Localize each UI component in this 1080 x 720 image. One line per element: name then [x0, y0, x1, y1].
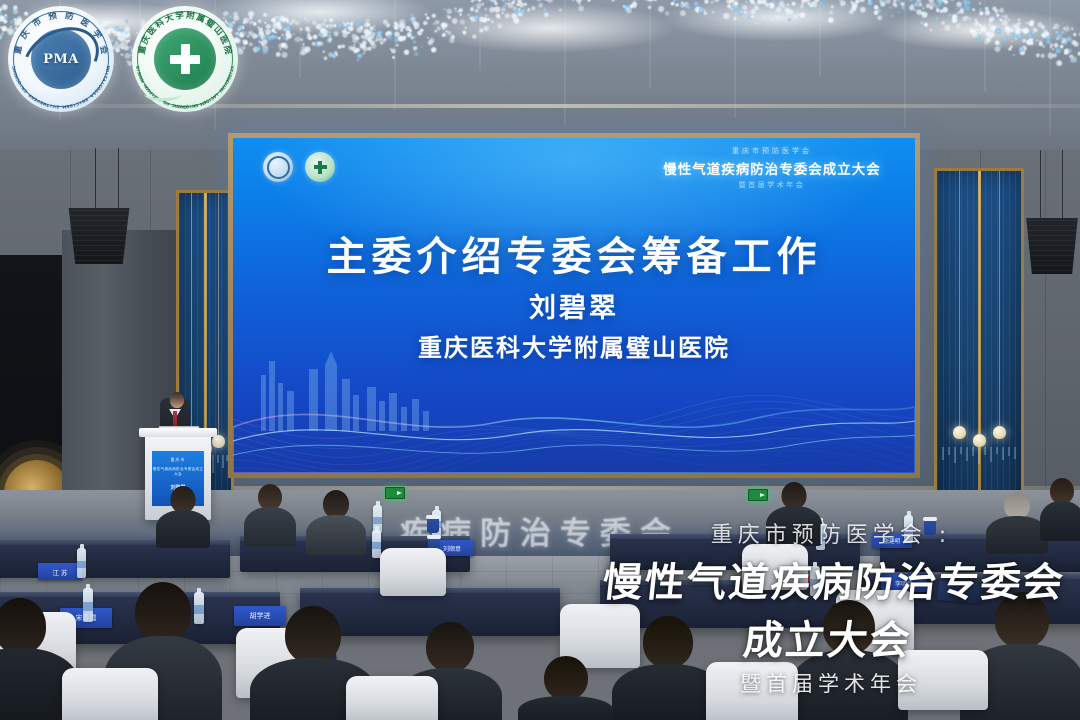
exit-sign-right	[748, 489, 768, 501]
screen-header-sub: 暨首届学术年会	[647, 180, 897, 190]
logo-bishan-hospital: 重庆医科大学附属璧山医院BISHAN HOSPITAL OF CHONGQING…	[132, 6, 238, 112]
hanging-line-array-speaker-left	[66, 208, 132, 264]
slide-speaker-affiliation: 重庆医科大学附属璧山医院	[233, 328, 915, 363]
audience-person	[244, 484, 296, 546]
paper-cup	[924, 520, 936, 535]
screen-logo-group	[263, 152, 335, 182]
audience-person	[1040, 478, 1080, 540]
chair	[706, 662, 798, 720]
exit-sign-left	[385, 487, 405, 499]
audience-person	[306, 490, 366, 552]
conference-photo: 重庆市预防医学会 慢性气道疾病防治专委会成立大会 暨首届学术年会 主委介绍专委会…	[0, 0, 1080, 720]
cpma-emblem-icon: PMA	[31, 29, 91, 89]
led-stage-screen: 重庆市预防医学会 慢性气道疾病防治专委会成立大会 暨首届学术年会 主委介绍专委会…	[228, 133, 920, 478]
chair	[898, 650, 988, 710]
screen-logo-hospital-icon	[305, 152, 335, 182]
chair	[742, 544, 808, 590]
audience-person-foreground	[790, 600, 908, 720]
corner-logo-group: 重庆市预防医学会CHONGQING PREVENTIVE MEDICINE AS…	[8, 6, 238, 112]
podium-text-line2: 慢性气道疾病防治专委会成立大会	[152, 467, 204, 477]
hanging-line-array-speaker-right	[1024, 218, 1080, 274]
audience-person	[156, 486, 210, 546]
presenter-head	[170, 392, 184, 408]
presenter-tie	[173, 411, 177, 427]
screen-header-main: 慢性气道疾病防治专委会成立大会	[647, 158, 897, 178]
chair	[62, 668, 158, 720]
slide-speaker-name: 刘碧翠	[233, 286, 915, 325]
blue-wall-panel-right	[934, 168, 1024, 523]
hospital-cross-icon	[154, 28, 216, 90]
water-bottle	[77, 548, 86, 578]
water-bottle	[83, 588, 93, 622]
name-placard: 江 苏	[38, 563, 82, 580]
hospital-wave-icon	[144, 87, 182, 101]
chair	[346, 676, 438, 720]
water-bottle	[810, 566, 820, 596]
screen-logo-cpma-icon	[263, 152, 293, 182]
podium-text-line1: 重庆市	[152, 457, 204, 463]
paper-cup	[427, 518, 439, 533]
water-bottle	[372, 530, 381, 558]
audience-person	[766, 482, 822, 544]
audience-person-foreground	[518, 656, 614, 720]
podium-top-surface	[139, 428, 217, 437]
screen-event-header: 重庆市预防医学会 慢性气道疾病防治专委会成立大会 暨首届学术年会	[647, 146, 897, 190]
logo-chongqing-preventive-medicine-association: 重庆市预防医学会CHONGQING PREVENTIVE MEDICINE AS…	[8, 6, 114, 112]
panel-sparkles-right	[937, 447, 1021, 469]
chair	[380, 548, 446, 596]
slide-title: 主委介绍专委会筹备工作	[233, 224, 915, 282]
audience-person	[986, 492, 1048, 552]
water-bottle	[904, 515, 913, 543]
screen-header-organizer: 重庆市预防医学会	[647, 146, 897, 156]
